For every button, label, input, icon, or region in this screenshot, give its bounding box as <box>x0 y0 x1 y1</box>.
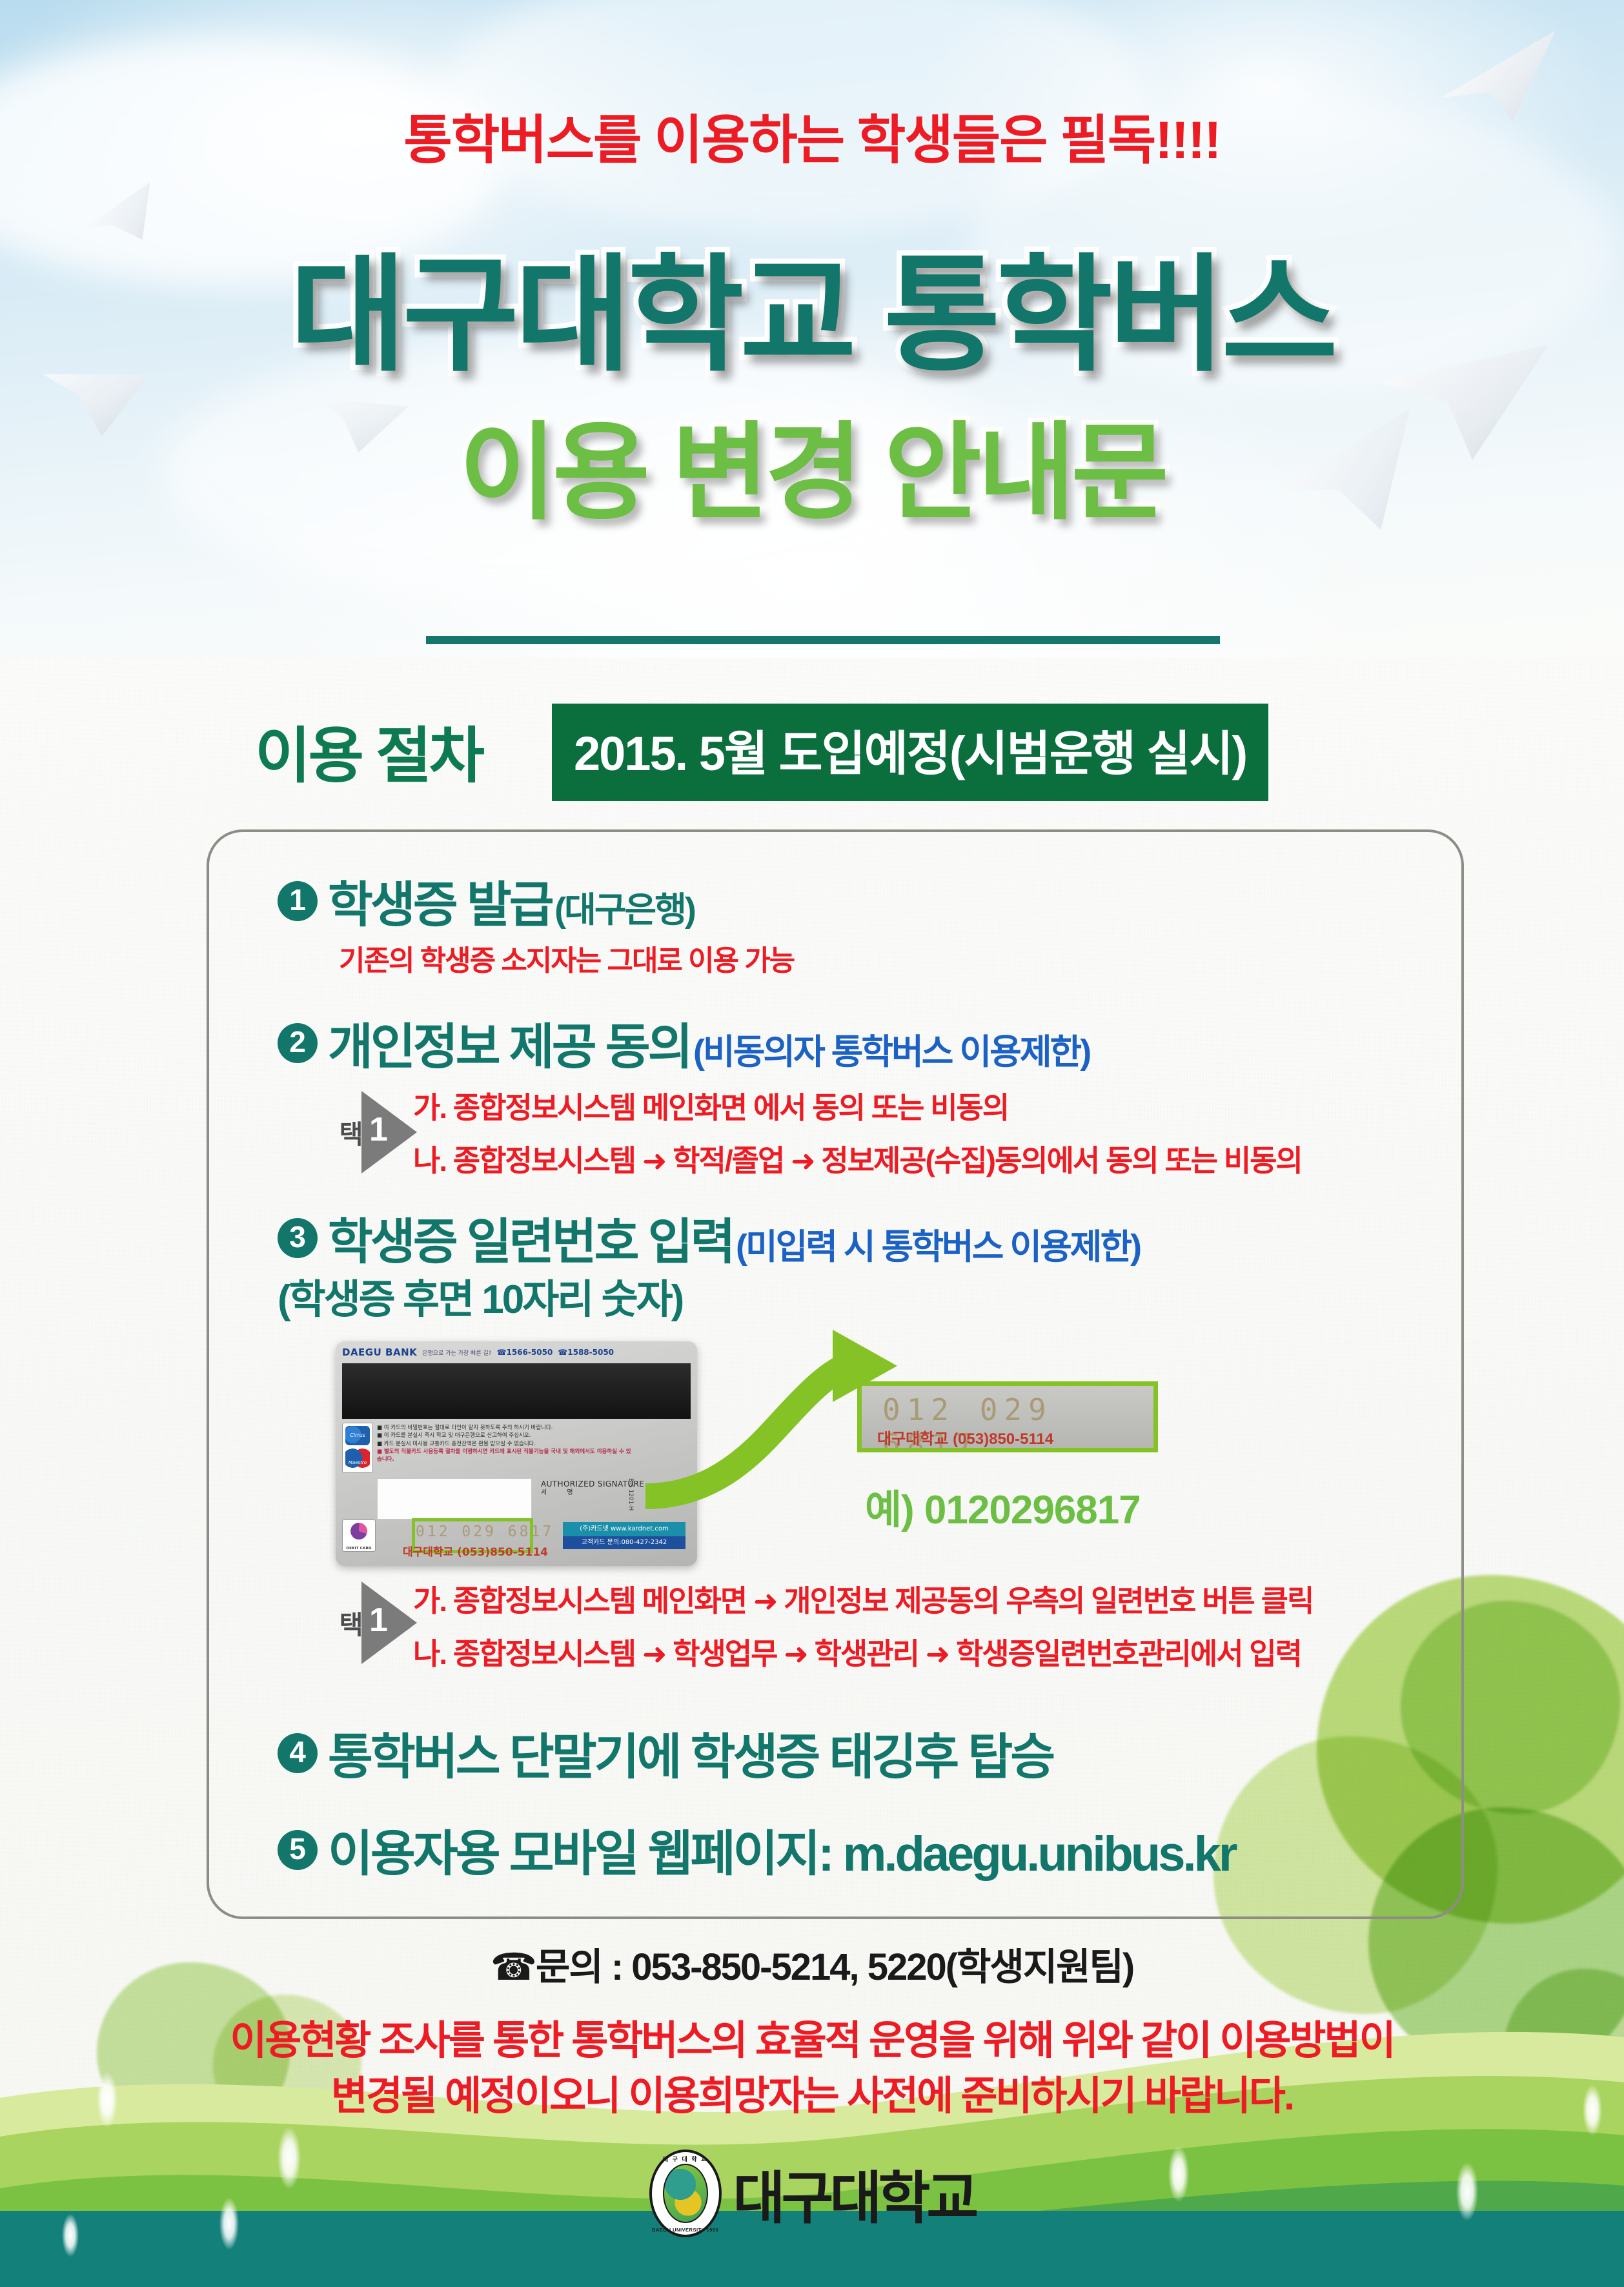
step-2-paren: (비동의자 통학버스 이용제한) <box>693 1033 1090 1072</box>
pick-label: 택 <box>336 1121 361 1144</box>
seal-emblem <box>663 2164 708 2223</box>
step-2-sub-a: 가. 종합정보시스템 메인화면 에서 동의 또는 비동의 <box>413 1084 1008 1127</box>
pick-label: 택 <box>336 1611 361 1634</box>
card-term-3: ■ 카드 분실시 미사용 교통카드 충전잔액은 환불 받으실 수 없습니다. <box>377 1440 635 1448</box>
card-serial-number: 012 029 6817 <box>416 1523 554 1540</box>
card-magnetic-stripe <box>342 1363 691 1419</box>
step-3-title: 학생증 일련번호 입력 <box>328 1215 733 1270</box>
card-term-4: ■ 별도의 직불카드 사용등록 절차를 이행하시면 카드에 표시된 직불기능을 … <box>377 1448 635 1464</box>
pick-one-marker-step2: 택 1 <box>336 1091 417 1174</box>
card-university-line: 대구대학교 (053)850-5114 <box>403 1543 548 1559</box>
pick-triangle-icon: 1 <box>361 1581 417 1664</box>
step-3-subtitle: (학생증 후면 10자리 숫자) <box>278 1266 682 1325</box>
debit-swirl-icon <box>350 1523 367 1540</box>
pick-count: 1 <box>369 1110 388 1149</box>
poster-title-line2: 이용 변경 안내문 <box>0 387 1624 540</box>
step-2: 2개인정보 제공 동의 (비동의자 통학버스 이용제한) <box>278 1007 1090 1078</box>
callout-serial-subtext: 대구대학교 (053)850-5114 <box>877 1426 1053 1448</box>
card-vertical-code: BIS 1201-H <box>627 1478 634 1510</box>
card-bank-slogan: 은행으로 가는 가장 빠른 길? <box>422 1348 491 1357</box>
step-2-sub-b: 나. 종합정보시스템 ➜ 학적/졸업 ➜ 정보제공(수집)동의에서 동의 또는 … <box>413 1137 1302 1180</box>
brand-lockup: 대 구 대 학 교 DAEGU UNIVERSITY 1956 대구대학교 <box>0 2150 1624 2237</box>
step-5: 5이용자용 모바일 웹페이지: m.daegu.unibus.kr <box>278 1814 1235 1885</box>
card-terms: ■ 이 카드의 비밀번호는 절대로 타인이 알지 못하도록 주의 하시기 바랍니… <box>377 1424 635 1464</box>
cirrus-logo-icon: Cirrus <box>345 1426 370 1445</box>
seal-bottom-text: DAEGU UNIVERSITY 1956 <box>652 2227 719 2233</box>
step-3-sub-b: 나. 종합정보시스템 ➜ 학생업무 ➜ 학생관리 ➜ 학생증일련번호관리에서 입… <box>413 1631 1301 1673</box>
card-term-2: ■ 이 카드를 분실시 즉시 학교 및 대구은행으로 신고하여 주십시오. <box>377 1432 635 1439</box>
card-debit-logo: DEBIT CARD <box>342 1520 376 1552</box>
card-network-logos: Cirrus Maestro <box>342 1423 373 1473</box>
pick-one-marker-step3: 택 1 <box>336 1581 417 1664</box>
step-3: 3학생증 일련번호 입력 (미입력 시 통학버스 이용제한) <box>278 1202 1140 1273</box>
step-2-title: 개인정보 제공 동의 <box>328 1020 691 1075</box>
card-bank-tel-1: ☎1566-5050 <box>497 1348 553 1357</box>
closing-line-1: 이용현황 조사를 통한 통학버스의 효율적 운영을 위해 위와 같이 이용방법이 <box>0 2007 1624 2066</box>
step-1-note: 기존의 학생증 소지자는 그대로 이용 가능 <box>339 937 794 979</box>
card-kardnet-line2: 고객카드 문의:080-427-2342 <box>563 1536 685 1549</box>
step-2-number: 2 <box>278 1023 318 1063</box>
step-5-title[interactable]: 이용자용 모바일 웹페이지: m.daegu.unibus.kr <box>328 1827 1235 1882</box>
step-4: 4통학버스 단말기에 학생증 태깅후 탑승 <box>278 1717 1053 1788</box>
poster-root: 통학버스를 이용하는 학생들은 필독!!!! 대구대학교 통학버스 이용 변경 … <box>0 0 1624 2287</box>
step-1: 1학생증 발급 (대구은행) <box>278 865 695 936</box>
pick-count: 1 <box>369 1601 388 1640</box>
section-badge: 2015. 5월 도입예정(시범운행 실시) <box>552 704 1268 801</box>
brand-name: 대구대학교 <box>733 2153 975 2235</box>
step-3-paren: (미입력 시 통학버스 이용제한) <box>736 1228 1140 1266</box>
step-3-number: 3 <box>278 1218 318 1258</box>
poster-title-line1: 대구대학교 통학버스 <box>0 213 1624 396</box>
card-debit-label: DEBIT CARD <box>346 1547 371 1550</box>
step-4-title: 통학버스 단말기에 학생증 태깅후 탑승 <box>328 1730 1053 1785</box>
step-4-number: 4 <box>278 1733 318 1773</box>
card-bank-name: DAEGU BANK <box>342 1347 417 1358</box>
card-kardnet-line1: (주)카드넷 www.kardnet.com <box>563 1522 685 1536</box>
card-bank-tel-2: ☎1588-5050 <box>558 1348 614 1357</box>
seal-top-text: 대 구 대 학 교 <box>652 2155 719 2163</box>
university-seal-icon: 대 구 대 학 교 DAEGU UNIVERSITY 1956 <box>649 2150 722 2237</box>
step-1-number: 1 <box>278 881 318 921</box>
maestro-logo-icon: Maestro <box>345 1448 370 1469</box>
closing-line-2: 변경될 예정이오니 이용희망자는 사전에 준비하시기 바랍니다. <box>0 2063 1624 2121</box>
contact-line: ☎문의 : 053-850-5214, 5220(학생지원팀) <box>0 1936 1624 1991</box>
pick-triangle-icon: 1 <box>361 1091 417 1174</box>
kicker-text: 통학버스를 이용하는 학생들은 필독!!!! <box>0 97 1624 174</box>
step-1-title: 학생증 발급 <box>328 878 552 933</box>
serial-zoom-callout: 012 029 6817 대구대학교 (053)850-5114 <box>857 1381 1158 1452</box>
card-term-1: ■ 이 카드의 비밀번호는 절대로 타인이 알지 못하도록 주의 하시기 바랍니… <box>377 1424 635 1432</box>
card-kardnet-block: (주)카드넷 www.kardnet.com 고객카드 문의:080-427-2… <box>563 1522 685 1549</box>
serial-example-text: 예) 0120296817 <box>865 1477 1141 1535</box>
section-label: 이용 절차 <box>255 707 482 795</box>
step-3-sub-a: 가. 종합정보시스템 메인화면 ➜ 개인정보 제공동의 우측의 일련번호 버튼 … <box>413 1578 1313 1620</box>
title-divider <box>426 636 1220 644</box>
step-1-paren: (대구은행) <box>554 891 695 930</box>
step-5-number: 5 <box>278 1830 318 1870</box>
card-signature-panel <box>377 1478 532 1520</box>
